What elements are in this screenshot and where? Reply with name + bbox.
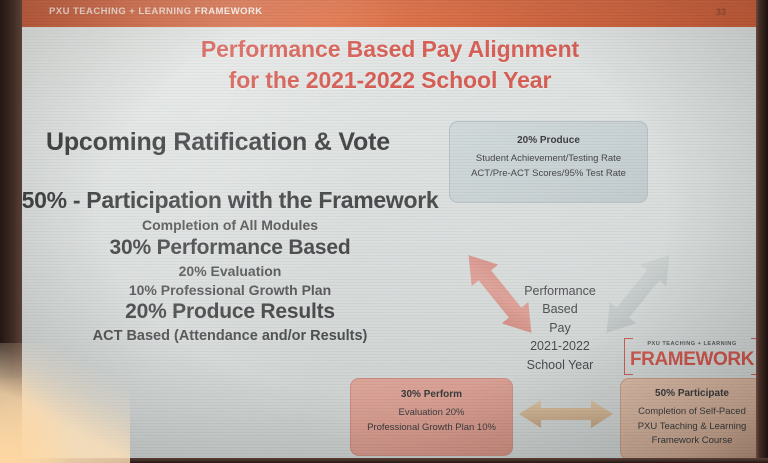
banner-brand-label: PXU TEACHING + LEARNING FRAMEWORK (49, 6, 263, 17)
perform-box-title: 30% Perform (351, 389, 512, 400)
banner-brand-dim: PXU TEACHING + LEARNING (49, 6, 195, 17)
produce-box-title: 20% Produce (450, 135, 647, 146)
participate-box-line-1: Completion of Self-Paced (621, 405, 760, 420)
projected-slide-photo: PXU TEACHING + LEARNING FRAMEWORK 33 Per… (0, 0, 768, 463)
perform-box-line-1: Evaluation 20% (351, 406, 512, 421)
performance-subtext-evaluation: 20% Evaluation (20, 263, 440, 279)
page-title-line1: Performance Based Pay Alignment (20, 34, 760, 65)
slide-banner: PXU TEACHING + LEARNING FRAMEWORK 33 (20, 0, 760, 27)
upcoming-ratification-heading: Upcoming Ratification & Vote (20, 128, 440, 157)
perform-box: 30% Perform Evaluation 20% Professional … (350, 378, 513, 456)
participation-heading: 50% - Participation with the Framework (20, 187, 440, 214)
left-text-column: Upcoming Ratification & Vote 50% - Parti… (20, 128, 440, 344)
framework-logo-word: FRAMEWORK (624, 349, 760, 371)
participate-box-line-2: PXU Teaching & Learning (621, 420, 760, 435)
produce-results-subtext: ACT Based (Attendance and/or Results) (20, 328, 440, 344)
produce-results-heading: 20% Produce Results (20, 300, 440, 324)
screen-edge-bottom (0, 458, 768, 463)
participation-subtext: Completion of All Modules (20, 217, 440, 233)
performance-heading: 30% Performance Based (20, 236, 440, 260)
page-title: Performance Based Pay Alignment for the … (20, 34, 760, 95)
cycle-arrow-right (592, 240, 684, 348)
page-title-line2: for the 2021-2022 School Year (20, 65, 760, 96)
participate-box: 50% Participate Completion of Self-Paced… (620, 378, 760, 460)
produce-box-line-1: Student Achievement/Testing Rate (450, 152, 647, 167)
screen-edge-left (0, 0, 22, 463)
banner-brand-bright: FRAMEWORK (195, 6, 263, 17)
performance-subtext-growth: 10% Professional Growth Plan (20, 282, 440, 298)
slide-canvas: PXU TEACHING + LEARNING FRAMEWORK 33 Per… (20, 0, 760, 460)
slide-page-number: 33 (716, 7, 726, 17)
cycle-arrow-bottom (516, 396, 616, 432)
participate-box-line-3: Framework Course (621, 434, 760, 449)
cycle-center-line-4: School Year (500, 356, 620, 374)
screen-edge-right (756, 0, 768, 463)
perform-box-line-2: Professional Growth Plan 10% (351, 421, 512, 436)
produce-box: 20% Produce Student Achievement/Testing … (449, 121, 648, 203)
produce-box-line-2: ACT/Pre-ACT Scores/95% Test Rate (450, 167, 647, 182)
participate-box-title: 50% Participate (621, 388, 760, 399)
cycle-arrow-left (454, 240, 546, 348)
